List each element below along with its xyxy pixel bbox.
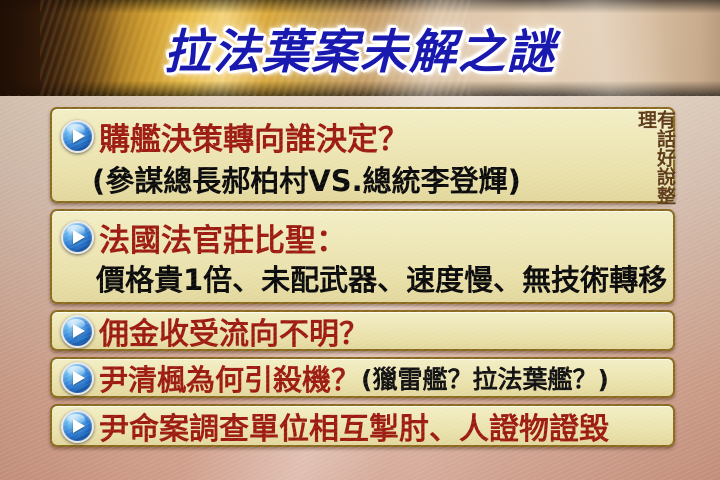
program-credit-vertical: 有話好說整理: [648, 110, 674, 222]
panel-3-heading-row: 佣金收受流向不明？: [52, 312, 673, 350]
bullet-panel-5: 尹命案調查單位相互掣肘、人證物證毀: [50, 404, 675, 447]
panel-4-heading-row: 尹清楓為何引殺機？ (獵雷艦？拉法葉艦？): [52, 359, 673, 397]
panel-4-inline-note: (獵雷艦？拉法葉艦？): [361, 360, 609, 396]
play-circle-icon: [61, 120, 94, 153]
panel-5-heading: 尹命案調查單位相互掣肘、人證物證毀: [99, 404, 609, 448]
bullet-panel-1: 購艦決策轉向誰決定？ (參謀總長郝柏村VS.總統李登輝): [50, 107, 675, 203]
panel-1-subline: (參謀總長郝柏村VS.總統李登輝): [92, 158, 673, 200]
play-circle-icon: [61, 221, 94, 254]
panel-4-heading: 尹清楓為何引殺機？: [99, 357, 360, 399]
panel-1-heading-row: 購艦決策轉向誰決定？: [52, 109, 673, 160]
bullet-panel-3: 佣金收受流向不明？: [50, 310, 675, 351]
page-title: 拉法葉案未解之謎: [0, 28, 720, 78]
panel-2-heading-row: 法國法官莊比聖：: [52, 211, 673, 260]
panel-3-heading: 佣金收受流向不明？: [99, 309, 369, 353]
panel-2-subline: 價格貴1倍、未配武器、速度慢、無技術轉移: [96, 257, 673, 299]
panel-5-heading-row: 尹命案調查單位相互掣肘、人證物證毀: [52, 406, 673, 446]
panel-1-heading: 購艦決策轉向誰決定？: [99, 114, 409, 159]
title-banner: 拉法葉案未解之謎: [0, 0, 720, 96]
bullet-panel-4: 尹清楓為何引殺機？ (獵雷艦？拉法葉艦？): [50, 357, 675, 398]
broadcast-graphic-screen: 拉法葉案未解之謎 購艦決策轉向誰決定？ (參謀總長郝柏村VS.總統李登輝) 法國…: [0, 0, 720, 480]
play-circle-icon: [61, 315, 94, 348]
bullet-panel-2: 法國法官莊比聖： 價格貴1倍、未配武器、速度慢、無技術轉移: [50, 209, 675, 304]
play-circle-icon: [61, 410, 94, 443]
play-circle-icon: [61, 362, 94, 395]
panel-2-heading: 法國法官莊比聖：: [99, 215, 347, 260]
